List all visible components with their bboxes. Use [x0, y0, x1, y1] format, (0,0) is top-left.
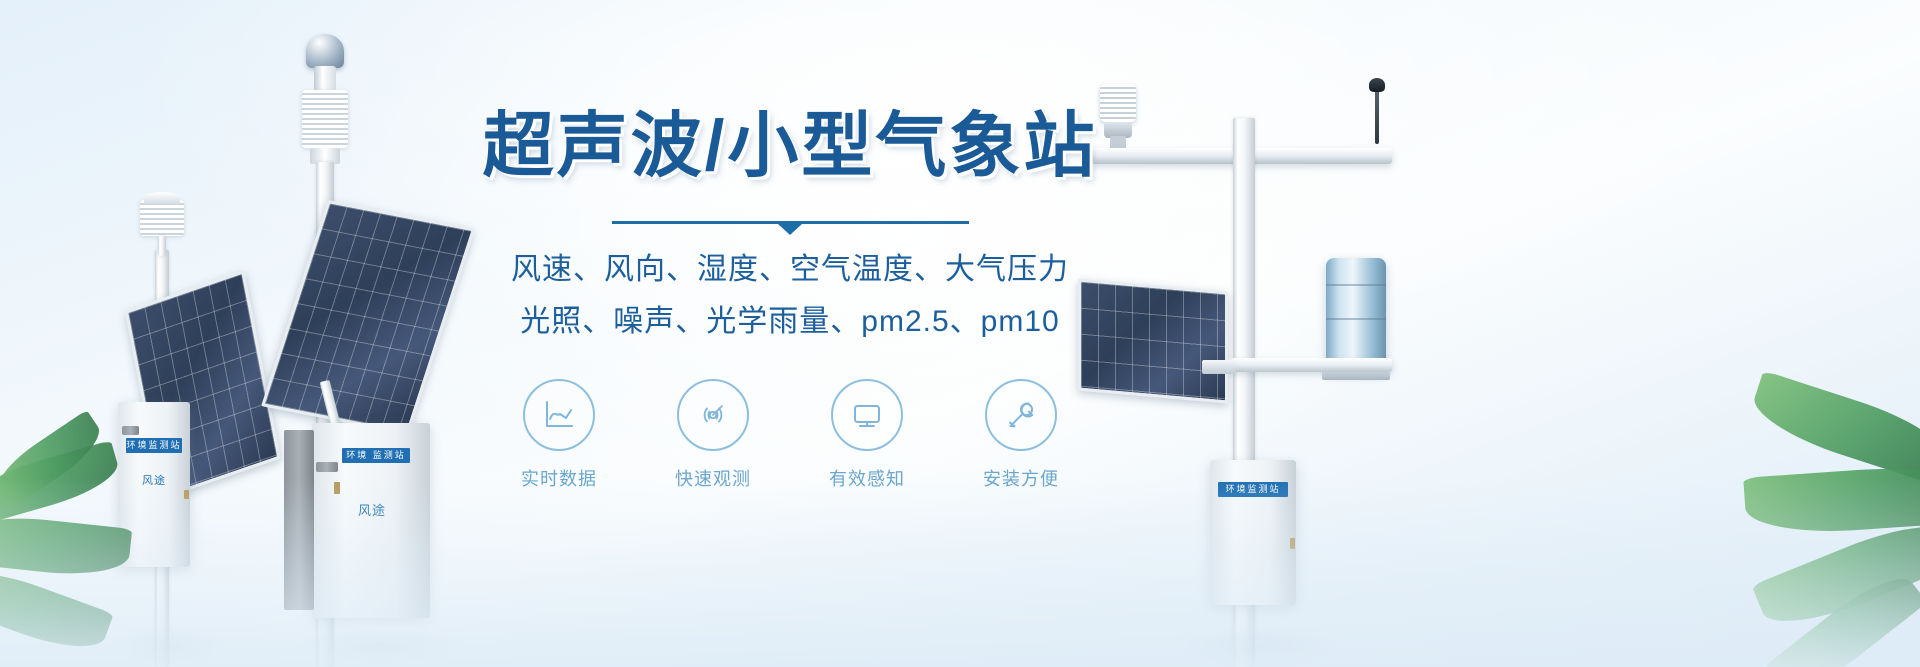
wrench-icon	[985, 379, 1057, 451]
rain-gauge-band-1	[1326, 284, 1386, 286]
line-chart-icon	[523, 379, 595, 451]
feature-list: 实时数据 快速观测	[440, 379, 1140, 491]
cross-arm-lower	[1220, 358, 1392, 372]
feature-label: 安装方便	[973, 465, 1069, 491]
feature-item-easy-installation[interactable]: 安装方便	[973, 379, 1069, 491]
feature-item-fast-observation[interactable]: 快速观测	[665, 379, 761, 491]
feature-item-effective-sensing[interactable]: 有效感知	[819, 379, 915, 491]
feature-label: 实时数据	[511, 465, 607, 491]
ultrasonic-sensor-head	[306, 34, 344, 68]
subtitle-line-2: 光照、噪声、光学雨量、pm2.5、pm10	[440, 298, 1140, 347]
radiation-shield-center	[302, 90, 348, 148]
feature-item-realtime-data[interactable]: 实时数据	[511, 379, 607, 491]
cabinet-tag-center: 环境 监测站	[342, 448, 410, 463]
bottom-haze-overlay	[0, 477, 1920, 667]
sensor-neck	[314, 66, 336, 92]
cabinet-vent-left	[122, 426, 139, 435]
shield-cap-left	[144, 192, 180, 204]
divider-arrow-icon	[778, 224, 802, 235]
feature-label: 有效感知	[819, 465, 915, 491]
subtitle-line-1: 风速、风向、湿度、空气温度、大气压力	[440, 246, 1140, 295]
cabinet-vent-center	[316, 462, 338, 472]
monitor-icon	[831, 379, 903, 451]
antenna-tip-icon	[1369, 78, 1385, 92]
product-banner: 环境监测站 风途 环境 监测站 风途 超声波/小型气象站 风速、风向、湿度、空气…	[0, 0, 1920, 667]
radiation-shield-left	[140, 200, 184, 236]
banner-content: 超声波/小型气象站 风速、风向、湿度、空气温度、大气压力 光照、噪声、光学雨量、…	[440, 110, 1140, 491]
optical-rain-gauge	[1326, 258, 1386, 373]
feature-label: 快速观测	[665, 465, 761, 491]
shield-stem-left	[158, 236, 166, 256]
page-title: 超声波/小型气象站	[440, 110, 1140, 185]
antenna-rod	[1375, 84, 1379, 144]
rain-gauge-band-2	[1326, 318, 1386, 320]
radar-signal-icon	[677, 379, 749, 451]
solar-panel-bracket-right	[1202, 360, 1236, 374]
title-divider	[612, 221, 969, 224]
